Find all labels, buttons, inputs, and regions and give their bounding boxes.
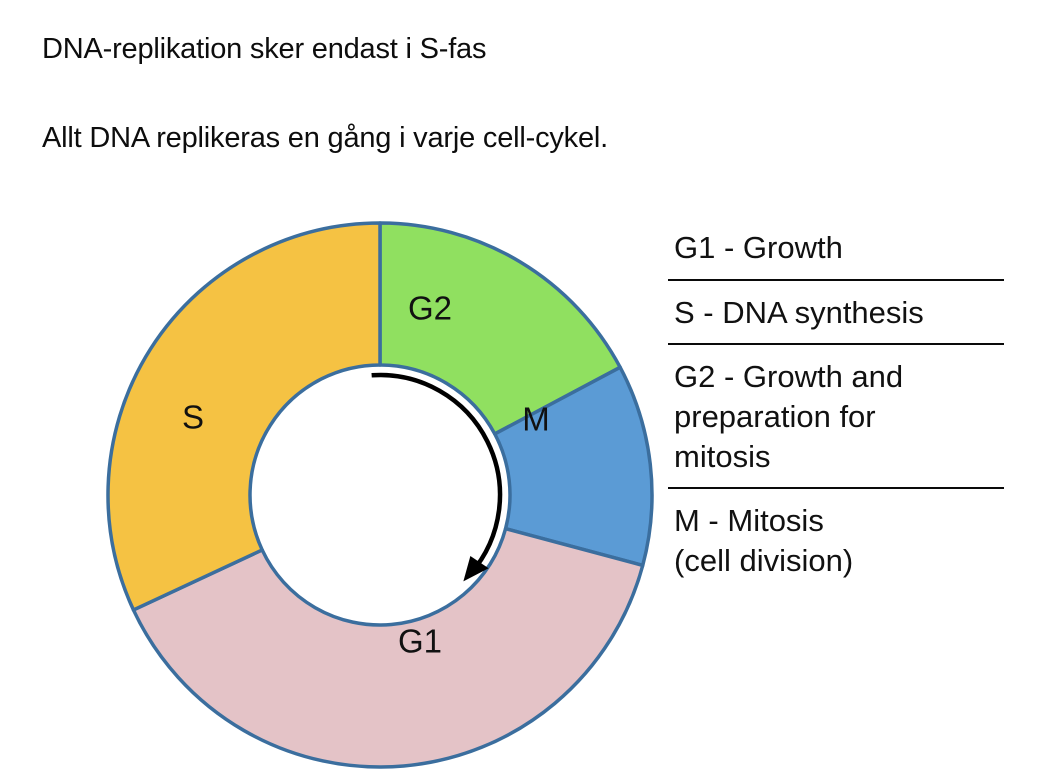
wedge-label-g1: G1	[398, 623, 442, 660]
page-title: DNA-replikation sker endast i S-fas	[42, 33, 486, 66]
legend-divider-3	[668, 487, 1004, 489]
page-subtitle: Allt DNA replikeras en gång i varje cell…	[42, 122, 608, 155]
legend-item-s: S - DNA synthesis	[668, 293, 1008, 333]
legend-item-m-line-1: (cell division)	[674, 541, 1008, 581]
legend-item-g1-line-0: G1 - Growth	[674, 228, 1008, 268]
legend-divider-1	[668, 279, 1004, 281]
cell-cycle-diagram: G2 M S G1	[100, 212, 660, 772]
legend: G1 - Growth S - DNA synthesis G2 - Growt…	[668, 228, 1008, 581]
wedge-label-m: M	[522, 401, 550, 438]
legend-item-s-line-0: S - DNA synthesis	[674, 293, 1008, 333]
slide-canvas: DNA-replikation sker endast i S-fas Allt…	[0, 0, 1060, 770]
legend-item-g2: G2 - Growth and preparation for mitosis	[668, 357, 1008, 476]
cell-cycle-svg: G2 M S G1	[100, 212, 660, 772]
legend-item-g1: G1 - Growth	[668, 228, 1008, 268]
legend-divider-2	[668, 343, 1004, 345]
legend-item-m: M - Mitosis (cell division)	[668, 501, 1008, 580]
legend-item-g2-line-0: G2 - Growth and	[674, 357, 1008, 397]
wedge-label-g2: G2	[408, 290, 452, 327]
legend-item-g2-line-2: mitosis	[674, 437, 1008, 477]
legend-item-g2-line-1: preparation for	[674, 397, 1008, 437]
legend-item-m-line-0: M - Mitosis	[674, 501, 1008, 541]
inner-hole	[254, 369, 506, 621]
wedge-label-s: S	[182, 399, 204, 436]
